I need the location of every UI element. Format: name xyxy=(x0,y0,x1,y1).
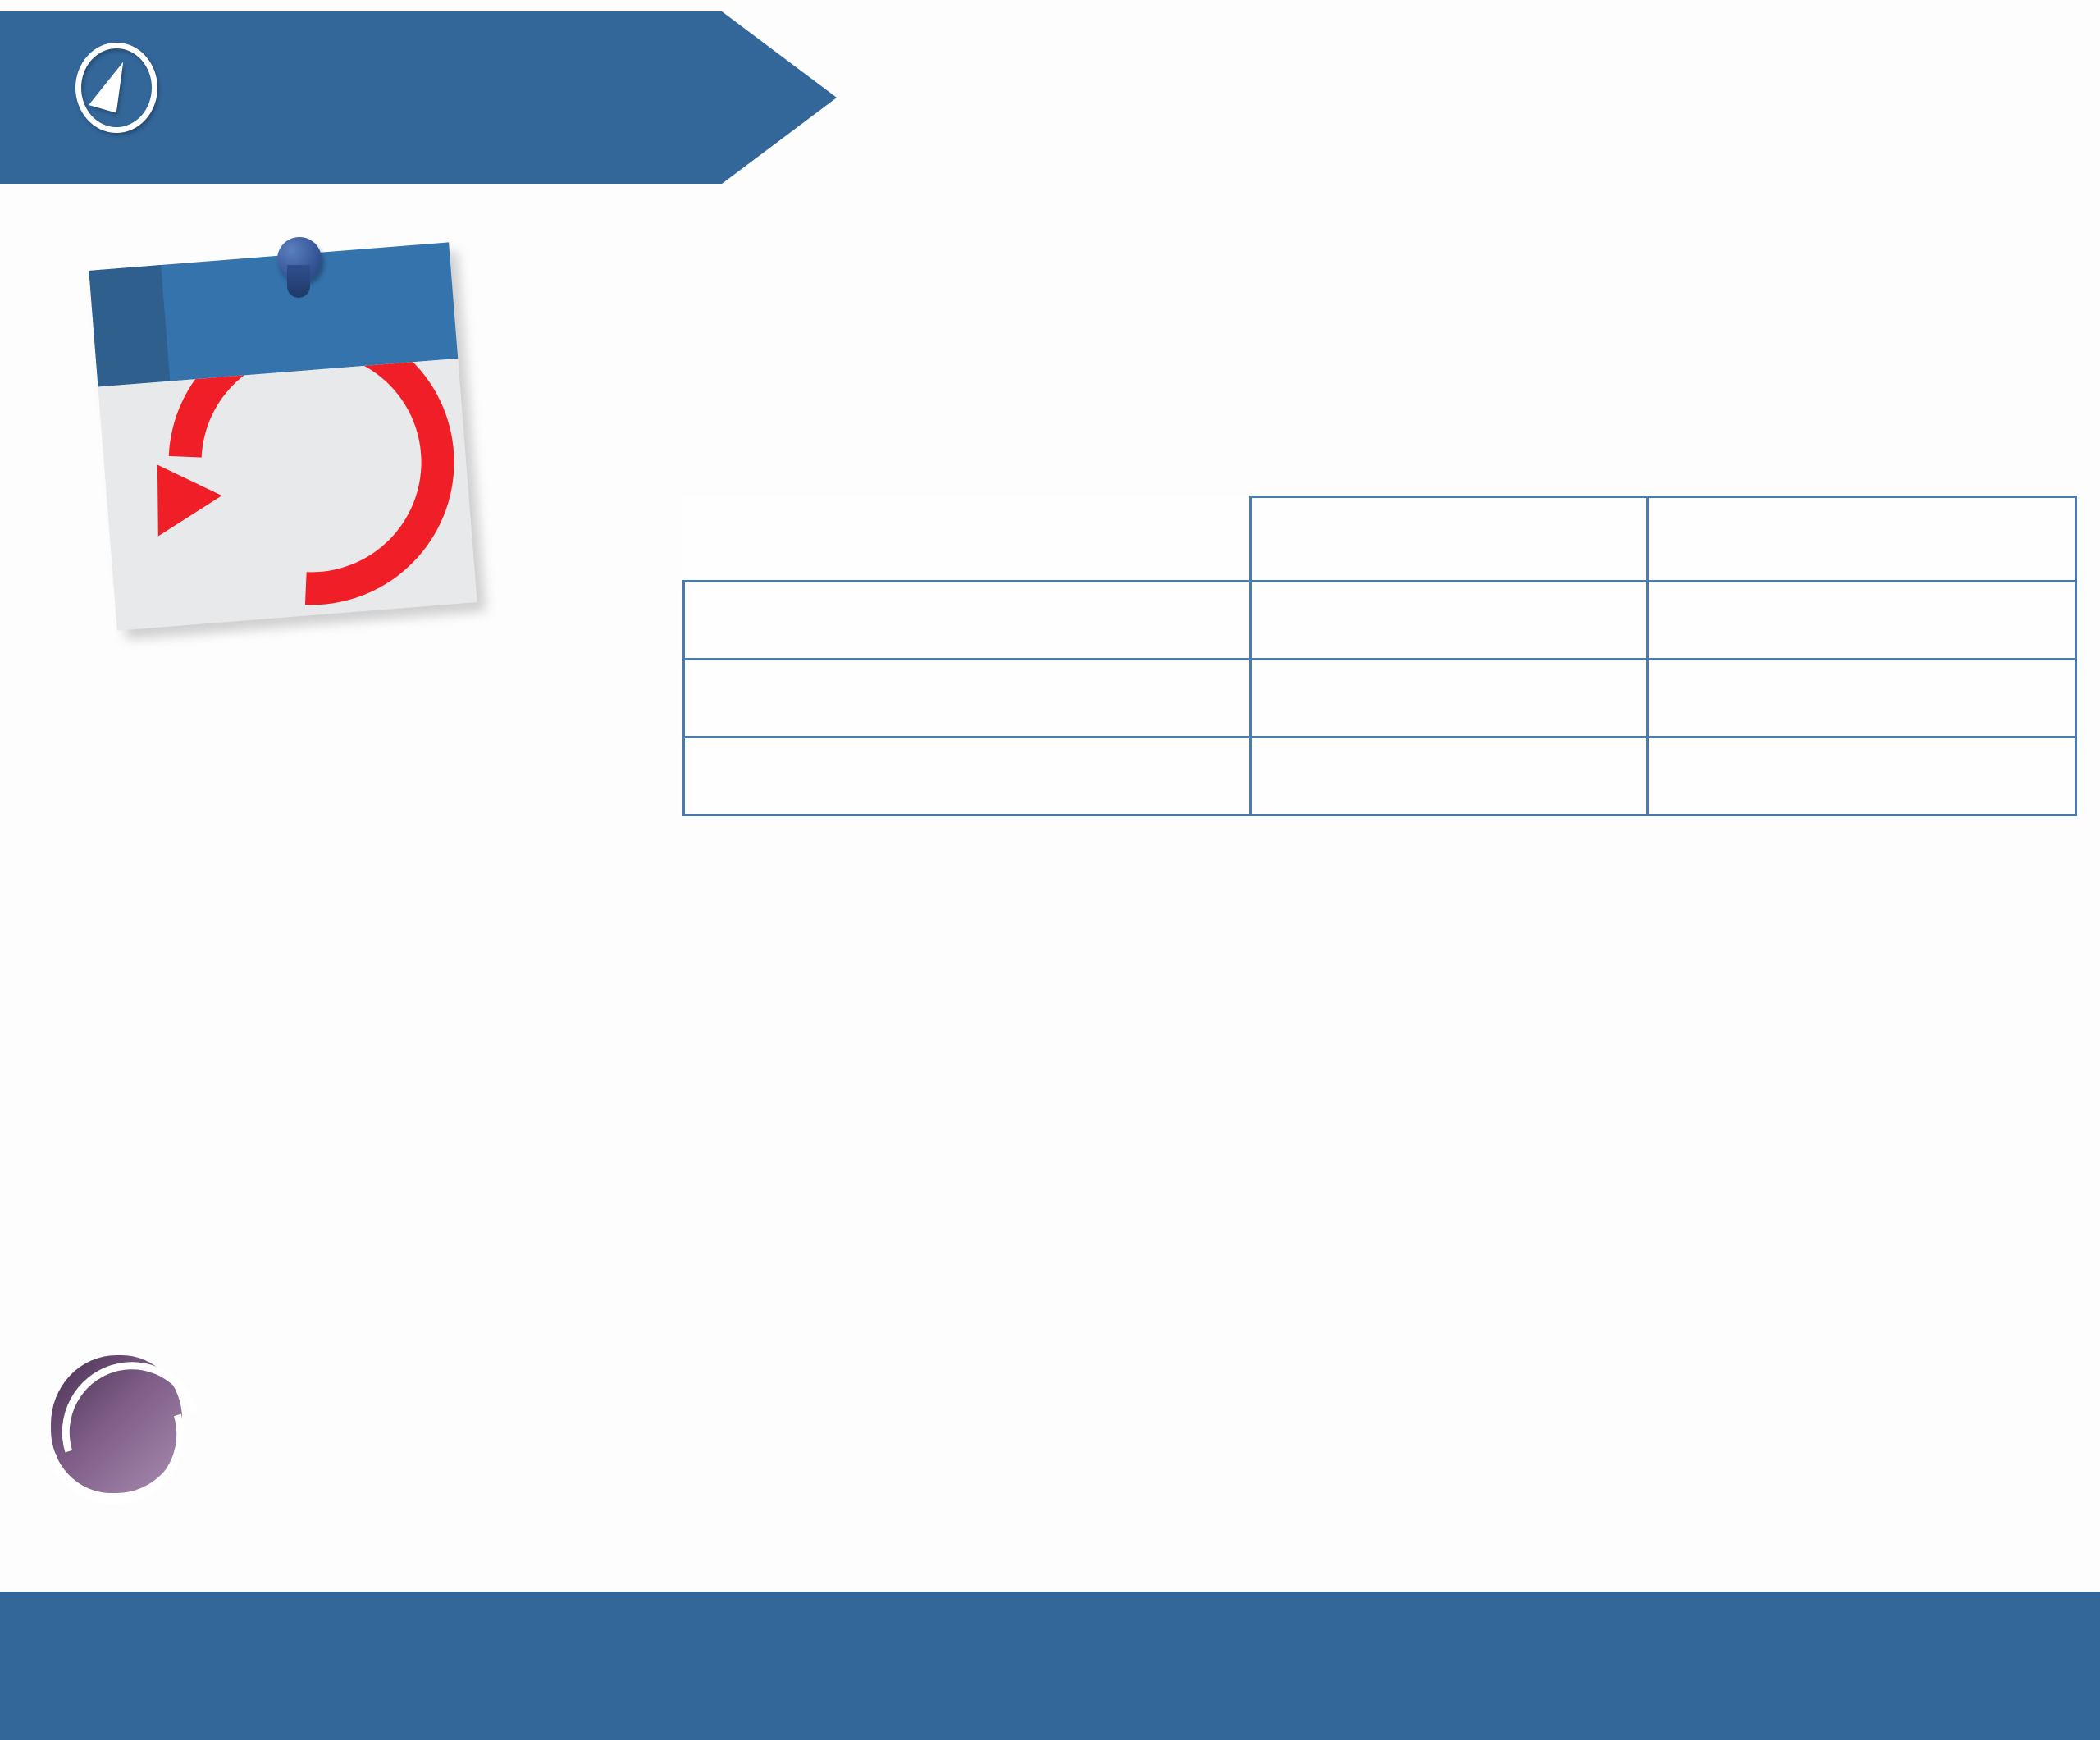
calendar-sheet xyxy=(89,242,477,630)
calendar-graphic xyxy=(78,211,504,670)
table-row xyxy=(684,660,2076,738)
table-cell-online xyxy=(1647,660,2075,738)
calendar-month-label xyxy=(261,313,285,315)
table-cell-online xyxy=(1647,582,2075,660)
sfai-logo xyxy=(51,1355,215,1493)
table-row xyxy=(684,582,2076,660)
calendar-header-shade xyxy=(89,265,170,386)
agenda-block xyxy=(771,856,2067,863)
calendar-body xyxy=(98,359,477,631)
table-cell-online xyxy=(1647,738,2075,815)
main-content xyxy=(0,190,2100,1592)
table-corner-cell xyxy=(684,497,1251,582)
table-header-presencial xyxy=(1250,497,1647,582)
table-cell-presencial xyxy=(1250,738,1647,815)
table-row-label xyxy=(684,660,1251,738)
brand-logo xyxy=(75,43,164,133)
table-cell-presencial xyxy=(1250,582,1647,660)
table-row-label xyxy=(684,582,1251,660)
flyer-page xyxy=(0,0,2100,1740)
pushpin-icon xyxy=(277,237,322,281)
pricing-table xyxy=(682,496,2077,816)
sfai-globe-icon xyxy=(51,1355,182,1493)
table-row-label xyxy=(684,738,1251,815)
venue-block xyxy=(48,1085,728,1086)
table-header-row xyxy=(684,497,2076,582)
header xyxy=(0,0,2100,190)
table-cell-presencial xyxy=(1250,660,1647,738)
page-title xyxy=(857,18,2084,166)
speakers-block xyxy=(48,847,720,848)
table-header-online xyxy=(1647,497,2075,582)
footer xyxy=(0,1592,2100,1740)
table-row xyxy=(684,738,2076,815)
objective-block xyxy=(632,240,2075,243)
graduation-cap-circle-icon xyxy=(75,43,157,133)
